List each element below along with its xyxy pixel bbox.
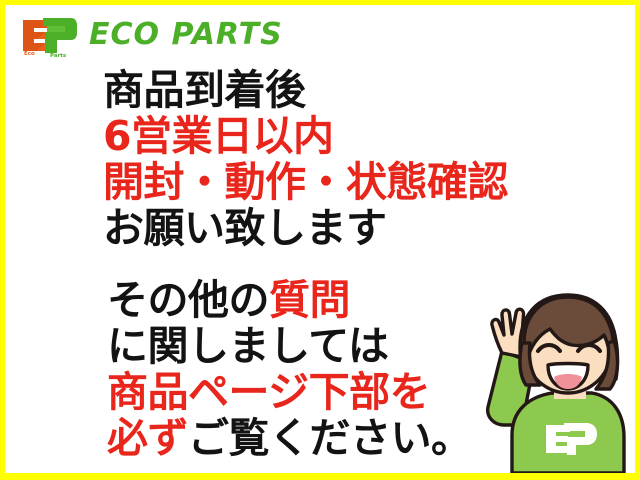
message-line: その他の質問 <box>107 277 472 323</box>
eco-parts-notice-banner: Eco Parts ECO PARTS 商品到着後 6営業日以内 開封・動作・状… <box>0 0 640 480</box>
brand-header: Eco Parts ECO PARTS <box>17 11 283 59</box>
message-segment: お願い致します <box>103 204 387 252</box>
message-segment: に関しましては <box>107 322 388 370</box>
message-segment: 6営業日以内 <box>103 112 334 160</box>
message-segment: ご覧ください。 <box>188 414 472 462</box>
svg-text:Parts: Parts <box>50 53 67 58</box>
eco-parts-ep-logo-icon: Eco Parts <box>17 12 79 58</box>
message-line: 開封・動作・状態確認 <box>103 159 508 205</box>
message-segment: 商品ページ下部を <box>107 368 430 416</box>
brand-wordmark: ECO PARTS <box>89 20 283 50</box>
waving-woman-mascot-illustration <box>464 285 632 473</box>
message-segment-highlight: 質問 <box>269 276 350 324</box>
message-line: に関しましては <box>107 323 472 369</box>
message-line: 6営業日以内 <box>103 113 508 159</box>
message-bottom: その他の質問 に関しましては 商品ページ下部を 必ずご覧ください。 <box>107 277 472 461</box>
message-segment: 開封・動作・状態確認 <box>103 158 508 206</box>
message-line: 商品到着後 <box>103 67 508 113</box>
message-top: 商品到着後 6営業日以内 開封・動作・状態確認 お願い致します <box>103 67 508 251</box>
svg-text:Eco: Eco <box>24 51 35 57</box>
message-segment-highlight: 必ず <box>107 414 188 462</box>
message-segment: その他の <box>107 276 269 324</box>
message-segment: 商品到着後 <box>103 66 306 114</box>
message-line: お願い致します <box>103 205 508 251</box>
message-line: 必ずご覧ください。 <box>107 415 472 461</box>
message-line: 商品ページ下部を <box>107 369 472 415</box>
